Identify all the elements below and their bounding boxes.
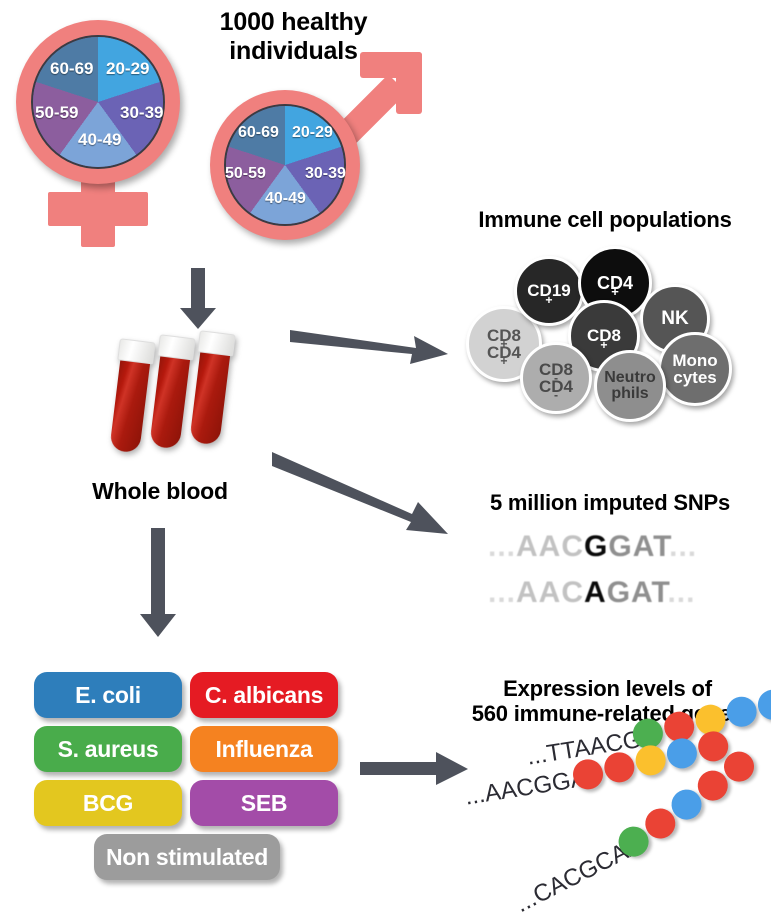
immune-cell-nk-label: NK [661,309,688,328]
stimulus-label: C. albicans [205,682,323,709]
snp-suffix: GAT [608,530,669,563]
gene-bead [665,736,699,770]
snp-lead-dots: ... [488,576,516,609]
arrow-blood-to-immune-cells [290,322,450,368]
arrow-blood-to-snps [272,452,452,544]
male-gender-symbol: 20-29 30-39 40-49 50-59 60-69 [200,28,420,238]
snp-trail-dots: ... [667,576,695,609]
snp-sequence-row: ...AACGGAT... [488,530,697,564]
arrow-cohort-to-blood [178,268,218,330]
blood-tube-body [149,346,191,449]
immune-cell-cd8n-cd4n-line2: CD4- [539,378,573,395]
blood-tube [189,331,232,446]
snp-trail-dots: ... [669,530,697,563]
stimulus-label: E. coli [75,682,141,709]
female-pie-label-60-69: 60-69 [50,59,93,79]
snp-prefix: AAC [516,530,584,563]
snp-variant-allele: G [584,530,608,563]
female-symbol-stem-cross [48,192,148,226]
immune-cell-cd8p-cd4p-line1: CD8+ [487,327,521,344]
immune-cell-cluster: CD8+ CD4+ CD19+ CD4+ NK CD8+ Mono cytes [462,240,762,425]
immune-cell-monocytes-line2: cytes [672,369,717,386]
stimulus-label: Non stimulated [106,844,268,871]
blood-tube [149,335,192,450]
immune-cell-neutrophils-line1: Neutro [604,370,656,386]
blood-tube-body [189,342,231,445]
stimuli-panel: E. coli C. albicans S. aureus Influenza … [34,672,344,892]
male-pie-label-50-59: 50-59 [225,165,266,183]
arrow-blood-to-stimuli [138,528,178,638]
male-pie-label-40-49: 40-49 [265,190,306,208]
immune-cell-cd19p-label: CD19+ [527,282,570,299]
immune-cell-neutrophils-line2: phils [604,386,656,402]
gene-strands: ...TTAACGG ...AACGGAT ...CACGCAA [455,742,771,922]
female-pie-label-20-29: 20-29 [106,59,149,79]
blood-tube-cap [117,338,155,364]
female-gender-symbol: 20-29 30-39 40-49 50-59 60-69 [8,12,188,252]
stimulus-label: S. aureus [58,736,159,763]
stimulus-pill-influenza[interactable]: Influenza [190,726,338,772]
blood-tube-cap [197,330,235,356]
immune-cell-cd8n-cd4n-line1: CD8- [539,361,573,378]
blood-tube [109,339,152,454]
figure-canvas: 1000 healthy individuals 20-29 30-39 40-… [0,0,771,922]
female-pie-label-50-59: 50-59 [35,103,78,123]
whole-blood-illustration [112,330,252,470]
blood-tube-body [109,350,151,453]
stimulus-pill-e-coli[interactable]: E. coli [34,672,182,718]
immune-cell-cd4p-label: CD4+ [597,274,633,292]
blood-tube-cap [157,334,195,360]
female-pie-label-40-49: 40-49 [78,130,121,150]
immune-cell-monocytes-line1: Mono [672,352,717,369]
snp-prefix: AAC [516,576,584,609]
stimulus-label: Influenza [216,736,313,763]
male-pie-label-60-69: 60-69 [238,124,279,142]
stimulus-pill-seb[interactable]: SEB [190,780,338,826]
arrow-stimuli-to-genes [360,752,470,786]
female-pie-label-30-39: 30-39 [120,103,163,123]
immune-cells-title: Immune cell populations [455,207,755,232]
snp-lead-dots: ... [488,530,516,563]
immune-cell-cd8p-cd4p-line2: CD4+ [487,344,521,361]
snp-suffix: GAT [607,576,668,609]
whole-blood-label: Whole blood [60,478,260,504]
snp-variant-allele: A [584,576,607,609]
immune-cells-title-text: Immune cell populations [455,207,755,232]
stimulus-pill-s-aureus[interactable]: S. aureus [34,726,182,772]
stimulus-pill-bcg[interactable]: BCG [34,780,182,826]
stimulus-label: SEB [241,790,287,817]
male-pie-label-20-29: 20-29 [292,124,333,142]
stimulus-label: BCG [83,790,133,817]
stimulus-pill-non-stimulated[interactable]: Non stimulated [94,834,280,880]
snps-title-text: 5 million imputed SNPs [460,490,760,515]
stimulus-pill-c-albicans[interactable]: C. albicans [190,672,338,718]
immune-cell-neutrophils: Neutro phils [594,350,666,422]
snp-sequences: ...AACGGAT... ...AACAGAT... [480,528,750,618]
immune-cell-monocytes: Mono cytes [658,332,732,406]
male-pie-label-30-39: 30-39 [305,165,346,183]
snp-sequence-row: ...AACAGAT... [488,576,695,610]
snps-title: 5 million imputed SNPs [460,490,760,515]
male-symbol-arrow-head-v [396,52,422,114]
immune-cell-cd8p-label: CD8+ [587,327,621,344]
immune-cell-cd8n-cd4n: CD8- CD4- [520,342,592,414]
whole-blood-label-text: Whole blood [60,478,260,504]
genes-title-line1: Expression levels of [455,676,760,701]
